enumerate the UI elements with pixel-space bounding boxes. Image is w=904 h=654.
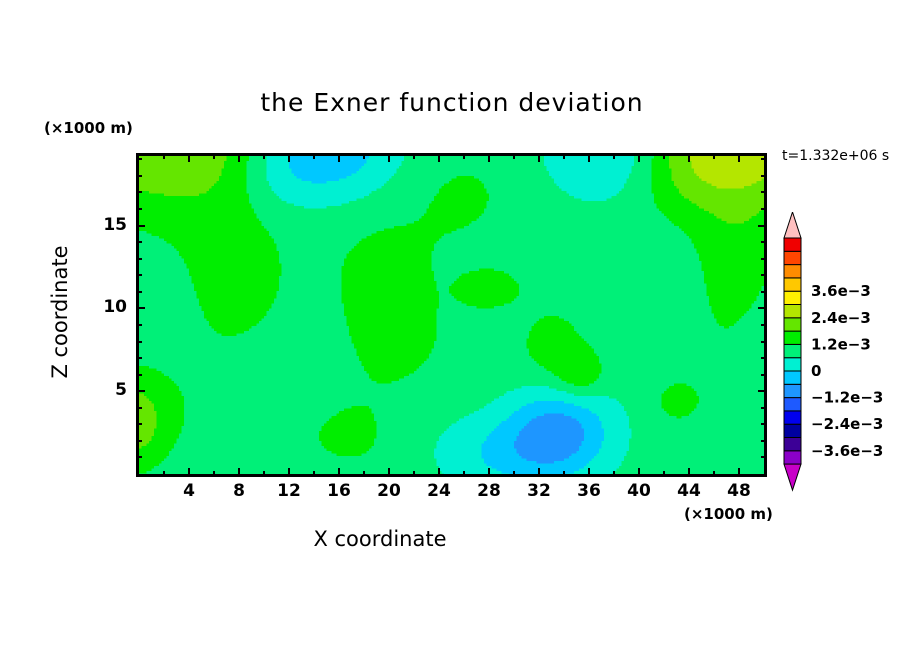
x-tick-top: [638, 153, 640, 162]
x-tick-top: [388, 153, 390, 162]
y-tick-right: [758, 390, 767, 392]
x-minor-tick: [563, 471, 565, 477]
y-tick-right: [758, 307, 767, 309]
colorbar-band: [784, 305, 801, 318]
y-minor-tick: [136, 440, 142, 442]
x-minor-tick-top: [213, 153, 215, 159]
colorbar-tick-label: 1.2e−3: [811, 335, 871, 353]
y-minor-tick-right: [761, 324, 767, 326]
y-minor-tick-right: [761, 208, 767, 210]
x-tick-label: 36: [569, 481, 609, 501]
x-minor-tick-top: [263, 153, 265, 159]
x-minor-tick-top: [313, 153, 315, 159]
x-tick-label: 16: [319, 481, 359, 501]
y-minor-tick-right: [761, 407, 767, 409]
y-minor-tick: [136, 456, 142, 458]
x-tick-label: 44: [669, 481, 709, 501]
y-minor-tick-right: [761, 374, 767, 376]
y-tick: [136, 225, 145, 227]
colorbar-band: [784, 331, 801, 344]
x-tick-top: [238, 153, 240, 162]
x-tick: [188, 468, 190, 477]
x-minor-tick: [463, 471, 465, 477]
x-minor-tick-top: [163, 153, 165, 159]
y-minor-tick: [136, 158, 142, 160]
contour-plot-area: [136, 153, 767, 477]
colorbar-band: [784, 291, 801, 304]
x-minor-tick-top: [363, 153, 365, 159]
x-minor-tick: [363, 471, 365, 477]
colorbar-tick-label: −1.2e−3: [811, 389, 883, 407]
x-minor-tick-top: [613, 153, 615, 159]
timestamp-annotation: t=1.332e+06 s: [782, 148, 889, 164]
y-minor-tick: [136, 423, 142, 425]
colorbar-band: [784, 371, 801, 384]
colorbar-tick-label: −3.6e−3: [811, 442, 883, 460]
colorbar-band: [784, 384, 801, 397]
y-tick-label: 10: [87, 297, 127, 317]
x-minor-tick-top: [513, 153, 515, 159]
x-tick-top: [338, 153, 340, 162]
y-minor-tick-right: [761, 158, 767, 160]
y-minor-tick-right: [761, 341, 767, 343]
y-minor-tick-right: [761, 440, 767, 442]
y-minor-tick-right: [761, 258, 767, 260]
y-tick-label: 5: [87, 380, 127, 400]
y-tick: [136, 390, 145, 392]
x-tick-label: 32: [519, 481, 559, 501]
x-tick-top: [488, 153, 490, 162]
colorbar-band: [784, 411, 801, 424]
y-minor-tick-right: [761, 357, 767, 359]
y-minor-tick: [136, 208, 142, 210]
colorbar-band: [784, 424, 801, 437]
x-tick-label: 40: [619, 481, 659, 501]
x-tick-label: 48: [719, 481, 759, 501]
x-tick-top: [538, 153, 540, 162]
y-minor-tick: [136, 407, 142, 409]
colorbar-over-arrow: [784, 212, 801, 238]
y-minor-tick: [136, 258, 142, 260]
x-tick: [538, 468, 540, 477]
x-axis-title: X coordinate: [0, 527, 760, 551]
y-minor-tick: [136, 291, 142, 293]
x-axis-unit-label: (×1000 m): [684, 505, 773, 523]
y-minor-tick-right: [761, 291, 767, 293]
x-minor-tick: [663, 471, 665, 477]
colorbar-under-arrow: [784, 464, 801, 490]
x-tick: [638, 468, 640, 477]
x-tick-top: [738, 153, 740, 162]
colorbar-scale: 3.6e−32.4e−31.2e−30−1.2e−3−2.4e−3−3.6e−3: [782, 212, 902, 512]
colorbar-band: [784, 278, 801, 291]
y-minor-tick: [136, 341, 142, 343]
contour-field: [139, 156, 764, 474]
x-tick-label: 28: [469, 481, 509, 501]
colorbar-tick-label: 2.4e−3: [811, 309, 871, 327]
y-minor-tick-right: [761, 175, 767, 177]
x-minor-tick-top: [663, 153, 665, 159]
x-tick: [588, 468, 590, 477]
x-minor-tick-top: [713, 153, 715, 159]
x-minor-tick-top: [563, 153, 565, 159]
y-minor-tick-right: [761, 456, 767, 458]
colorbar-tick-label: −2.4e−3: [811, 415, 883, 433]
x-tick-label: 20: [369, 481, 409, 501]
y-minor-tick: [136, 357, 142, 359]
y-minor-tick: [136, 374, 142, 376]
x-tick: [388, 468, 390, 477]
x-minor-tick: [413, 471, 415, 477]
y-axis-title: Z coordinate: [48, 192, 72, 432]
colorbar-band: [784, 265, 801, 278]
colorbar-tick-label: 0: [811, 362, 821, 380]
x-tick-top: [688, 153, 690, 162]
x-minor-tick: [713, 471, 715, 477]
x-tick-label: 12: [269, 481, 309, 501]
colorbar-band: [784, 251, 801, 264]
y-minor-tick: [136, 191, 142, 193]
x-tick: [688, 468, 690, 477]
y-minor-tick: [136, 274, 142, 276]
colorbar-band: [784, 344, 801, 357]
x-tick: [238, 468, 240, 477]
y-minor-tick: [136, 241, 142, 243]
x-tick-label: 24: [419, 481, 459, 501]
x-minor-tick-top: [463, 153, 465, 159]
x-tick-label: 4: [169, 481, 209, 501]
colorbar-band: [784, 318, 801, 331]
page-title: the Exner function deviation: [0, 88, 904, 117]
y-tick-right: [758, 225, 767, 227]
x-tick-top: [588, 153, 590, 162]
y-minor-tick-right: [761, 191, 767, 193]
x-tick: [438, 468, 440, 477]
x-minor-tick: [213, 471, 215, 477]
y-minor-tick: [136, 324, 142, 326]
colorbar: 3.6e−32.4e−31.2e−30−1.2e−3−2.4e−3−3.6e−3: [782, 212, 902, 516]
y-tick-label: 15: [87, 215, 127, 235]
y-minor-tick: [136, 175, 142, 177]
colorbar-band: [784, 438, 801, 451]
x-tick-label: 8: [219, 481, 259, 501]
x-tick-top: [188, 153, 190, 162]
x-minor-tick: [613, 471, 615, 477]
colorbar-band: [784, 398, 801, 411]
y-tick: [136, 307, 145, 309]
x-minor-tick: [313, 471, 315, 477]
y-minor-tick-right: [761, 423, 767, 425]
x-tick: [338, 468, 340, 477]
colorbar-tick-label: 3.6e−3: [811, 282, 871, 300]
colorbar-band: [784, 358, 801, 371]
x-minor-tick-top: [413, 153, 415, 159]
x-tick: [488, 468, 490, 477]
x-minor-tick: [513, 471, 515, 477]
y-axis-unit-label: (×1000 m): [44, 119, 133, 137]
x-tick: [738, 468, 740, 477]
x-minor-tick: [263, 471, 265, 477]
x-tick-top: [438, 153, 440, 162]
y-minor-tick-right: [761, 274, 767, 276]
x-tick: [288, 468, 290, 477]
colorbar-band: [784, 238, 801, 251]
y-minor-tick-right: [761, 241, 767, 243]
colorbar-band: [784, 451, 801, 464]
x-minor-tick: [163, 471, 165, 477]
x-tick-top: [288, 153, 290, 162]
